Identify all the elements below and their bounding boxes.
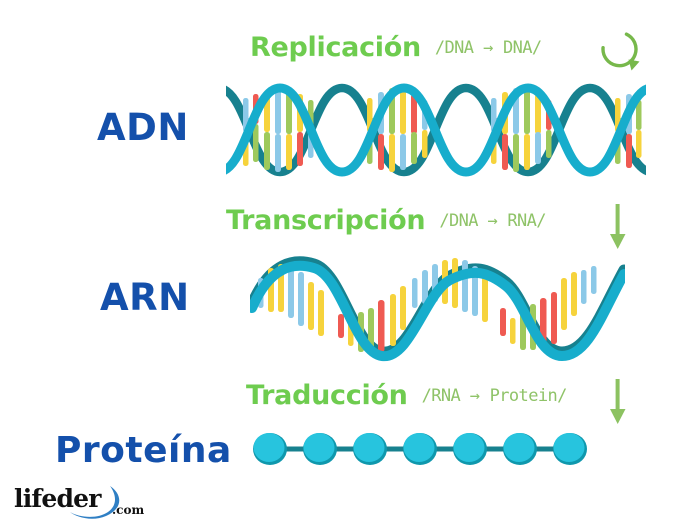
logo-domain-suffix: .com bbox=[112, 503, 144, 517]
figure-canvas: Replicación /DNA → DNA/ bbox=[0, 0, 678, 524]
process-name-replication: Replicación bbox=[250, 32, 421, 63]
lifeder-logo[interactable]: lifeder .com bbox=[14, 484, 154, 520]
formula-from: /DNA bbox=[439, 211, 478, 231]
process-formula-translation: /RNA → Protein/ bbox=[422, 386, 567, 406]
circular-arrow-icon bbox=[592, 24, 648, 81]
logo-wordmark: lifeder bbox=[14, 484, 101, 513]
process-formula-transcription: /DNA → RNA/ bbox=[439, 211, 546, 231]
dna-base-pairs bbox=[243, 88, 642, 172]
dna-svg bbox=[226, 76, 646, 184]
dna-double-helix-graphic bbox=[226, 76, 646, 184]
process-name-transcription: Transcripción bbox=[226, 205, 425, 236]
protein-svg bbox=[248, 428, 588, 468]
rna-single-strand-graphic bbox=[250, 252, 625, 364]
process-formula-replication: /DNA → DNA/ bbox=[435, 38, 542, 58]
formula-arrow-icon: → bbox=[488, 211, 498, 231]
process-name-translation: Traducción bbox=[246, 380, 408, 411]
row-label-rna: ARN bbox=[100, 276, 190, 319]
formula-to: RNA/ bbox=[507, 211, 546, 231]
formula-arrow-icon: → bbox=[483, 38, 493, 58]
arrow-down-icon bbox=[605, 379, 631, 432]
protein-chain-graphic bbox=[248, 428, 588, 468]
formula-to: DNA/ bbox=[503, 38, 542, 58]
formula-from: /DNA bbox=[435, 38, 474, 58]
formula-arrow-icon: → bbox=[470, 386, 480, 406]
row-label-protein: Proteína bbox=[55, 430, 232, 471]
row-label-dna: ADN bbox=[97, 106, 189, 149]
formula-from: /RNA bbox=[422, 386, 461, 406]
process-row-transcription: Transcripción /DNA → RNA/ bbox=[226, 205, 546, 236]
process-row-replication: Replicación /DNA → DNA/ bbox=[250, 32, 542, 63]
arrow-down-icon bbox=[605, 204, 631, 257]
process-row-translation: Traducción /RNA → Protein/ bbox=[246, 380, 567, 411]
formula-to: Protein/ bbox=[490, 386, 567, 406]
protein-beads bbox=[253, 433, 587, 465]
rna-svg bbox=[250, 252, 625, 364]
